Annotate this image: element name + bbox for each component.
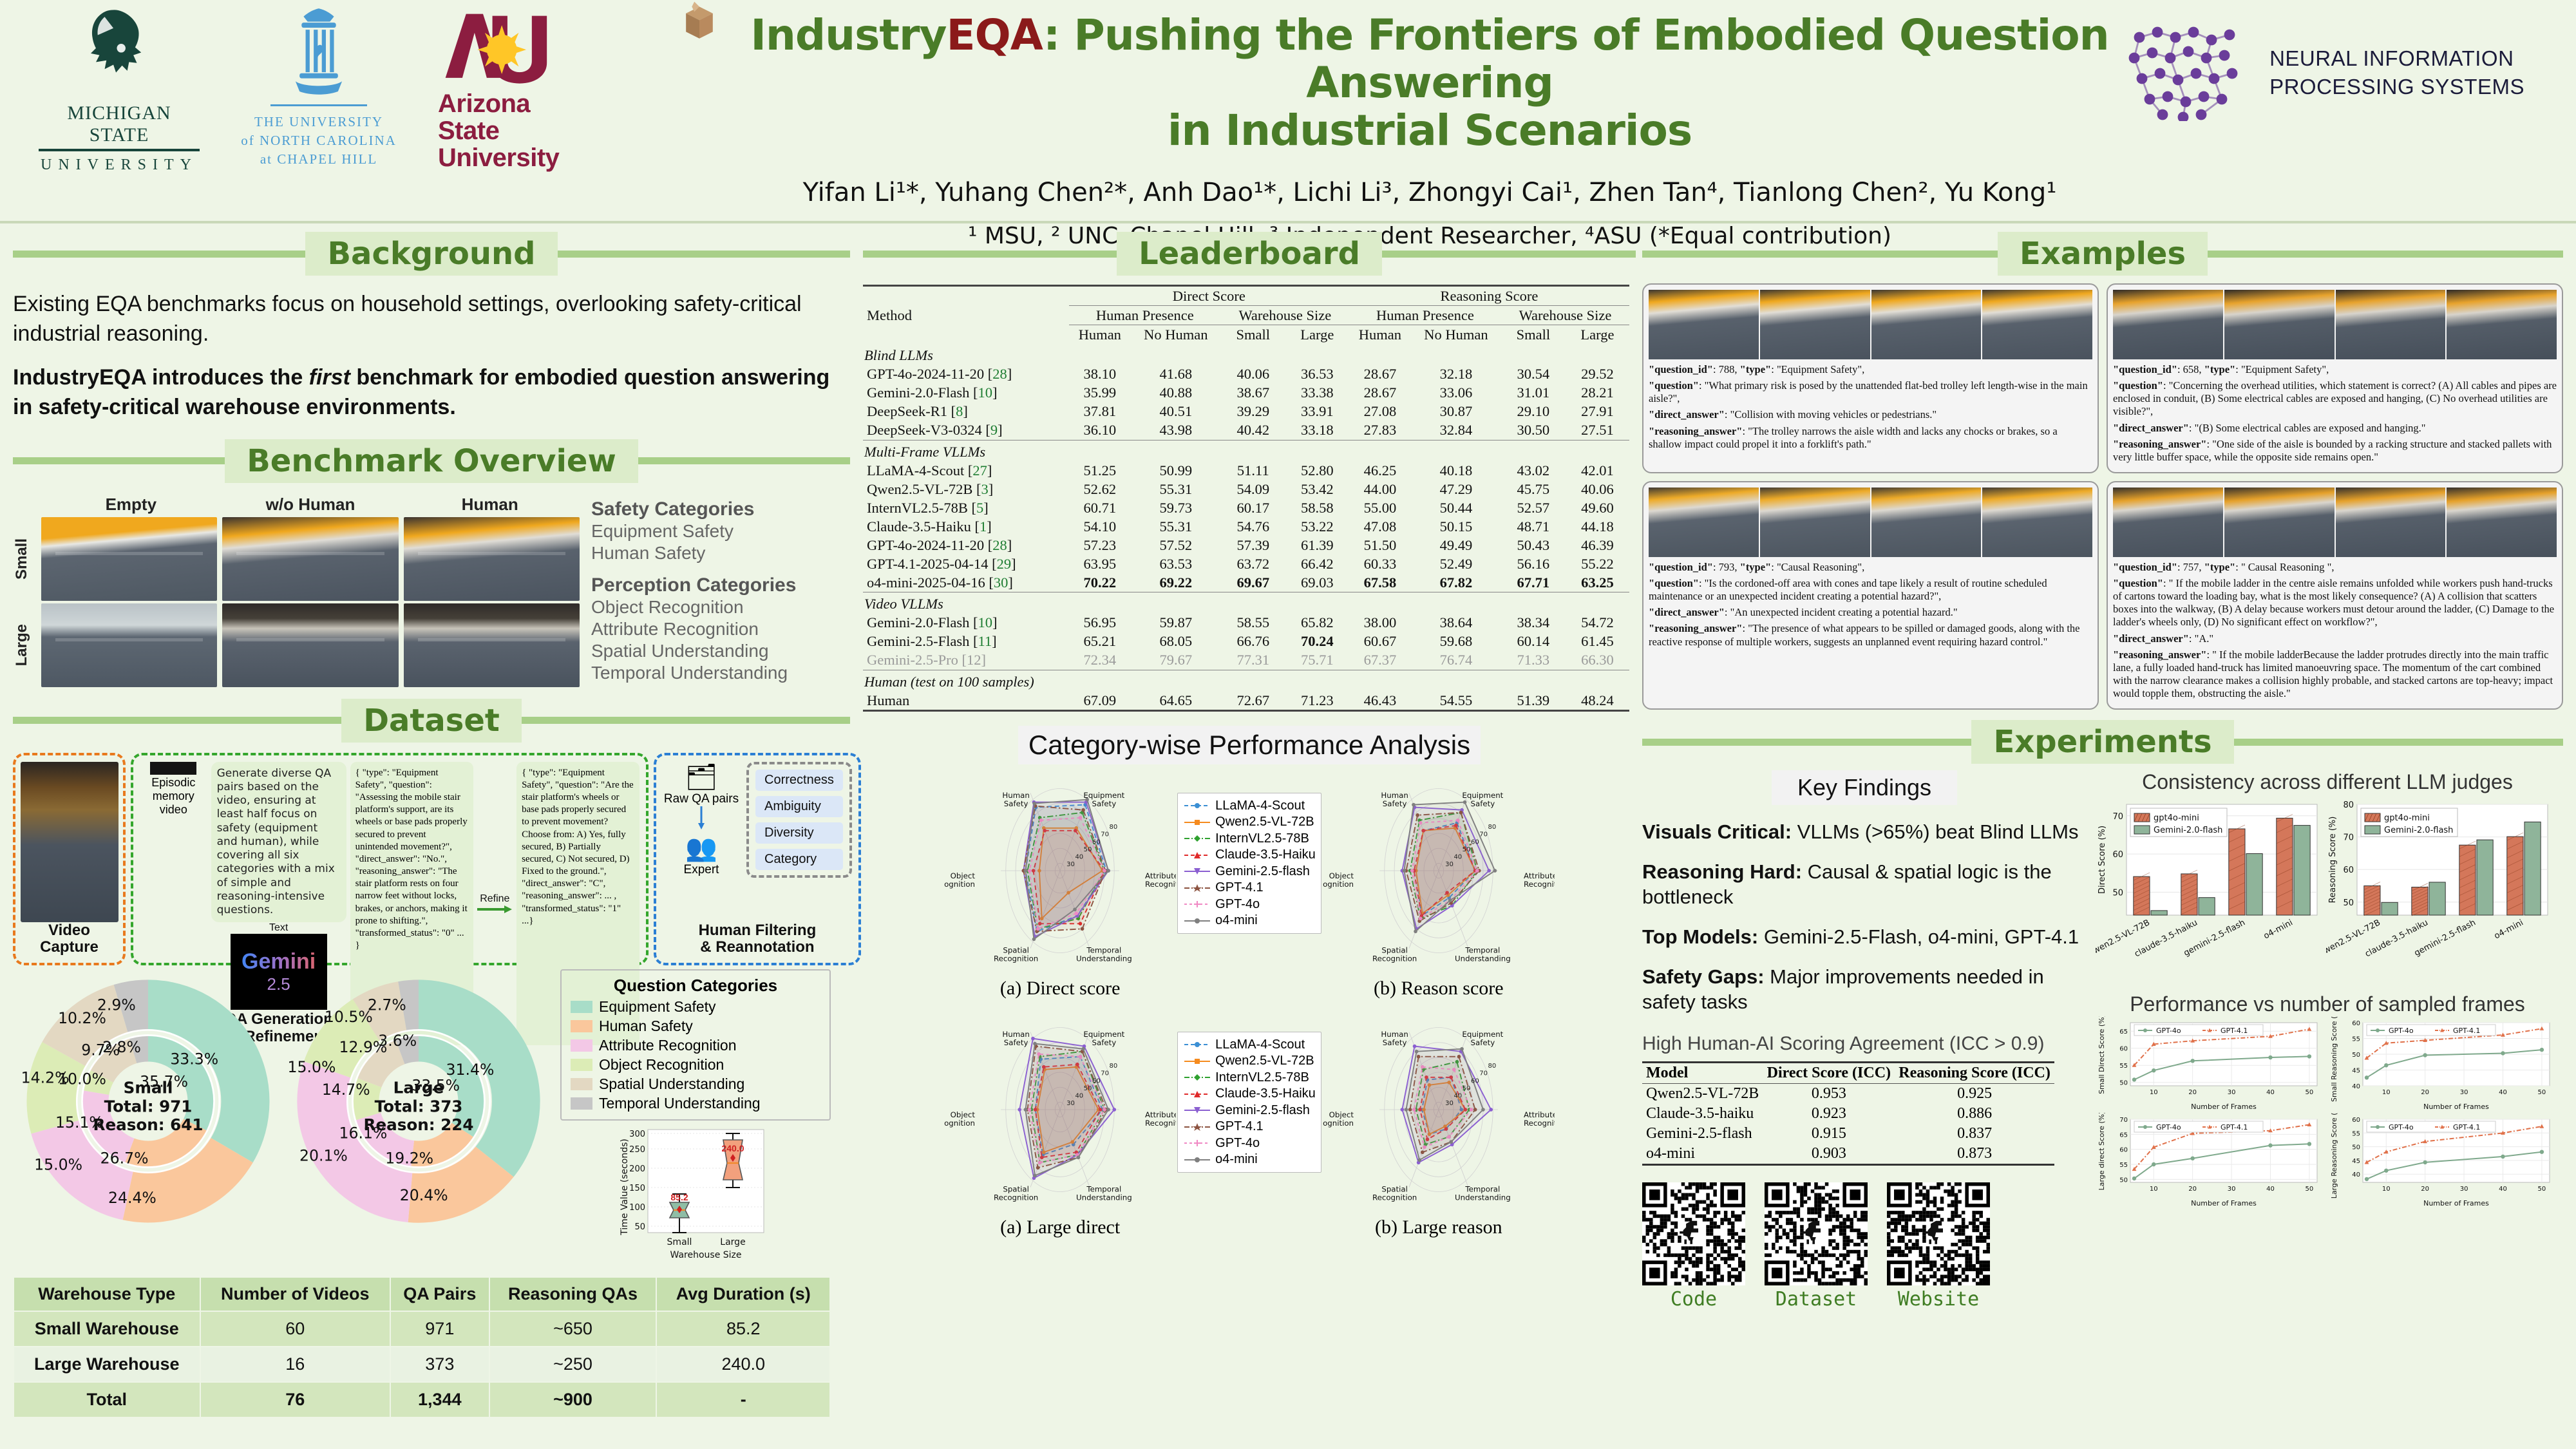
- decorative-bar-right: [1382, 251, 1636, 258]
- arrow-right-icon: [477, 905, 512, 914]
- boxplot-xtick-small: Small: [667, 1237, 692, 1247]
- cell-avg-duration: 240.0: [656, 1347, 830, 1382]
- arrow-label-refine: Refine: [480, 893, 509, 905]
- svg-text:20: 20: [2421, 1089, 2429, 1096]
- qr-code-icon[interactable]: [1642, 1182, 1745, 1285]
- institution-logos: MICHIGAN STATE UNIVERSITY THE UNIVERSIT: [39, 6, 592, 174]
- svg-text:GPT-4.1: GPT-4.1: [2453, 1123, 2480, 1132]
- leaderboard-score-cell: 41.68: [1131, 365, 1221, 384]
- svg-text:30: 30: [2228, 1089, 2236, 1096]
- col-header: Large: [1566, 325, 1629, 345]
- decorative-bar-left: [863, 251, 1117, 258]
- svg-text:Small Direct Score (%): Small Direct Score (%): [2098, 1016, 2106, 1094]
- leaderboard-score-cell: 71.33: [1501, 651, 1566, 670]
- leaderboard-score-cell: 38.10: [1069, 365, 1131, 384]
- icc-table: Model Direct Score (ICC) Reasoning Score…: [1642, 1061, 2054, 1166]
- qr-label-code: Code: [1642, 1288, 1745, 1311]
- leaderboard-score-cell: 60.17: [1221, 498, 1285, 517]
- leaderboard-score-cell: 53.22: [1285, 517, 1349, 536]
- leaderboard-method-cell: GPT-4o-2024-11-20 [28]: [863, 365, 1069, 384]
- leaderboard-score-cell: 33.06: [1411, 384, 1501, 402]
- svg-text:Reasoning Score (%): Reasoning Score (%): [2328, 817, 2338, 904]
- qr-card-dataset[interactable]: Dataset: [1765, 1182, 1868, 1311]
- leaderboard-score-cell: 63.25: [1566, 573, 1629, 592]
- subheader-human-presence: Human Presence: [1069, 306, 1221, 325]
- leaderboard-score-cell: 60.33: [1349, 554, 1411, 573]
- legend-item: Temporal Understanding: [571, 1095, 820, 1112]
- neurips-logo: NEURAL INFORMATION PROCESSING SYSTEMS: [2124, 24, 2524, 121]
- example-card: "question_id": 788, "type": "Equipment S…: [1642, 283, 2099, 473]
- svg-text:50: 50: [1462, 1085, 1470, 1092]
- legend-item: Human Safety: [571, 1018, 820, 1035]
- col-header-avg-duration: Avg Duration (s): [656, 1277, 830, 1311]
- leaderboard-group-row: Blind LLMs: [863, 344, 1629, 365]
- col-header-reasoning-qas: Reasoning QAs: [489, 1277, 657, 1311]
- radar-row-small: 304050607080EquipmentSafetyAttributeReco…: [863, 764, 1636, 999]
- radar-legend-item: o4-mini: [1183, 913, 1316, 928]
- radar-legend-label: Qwen2.5-VL-72B: [1215, 1054, 1314, 1068]
- leaderboard-row: InternVL2.5-78B [5]60.7159.7360.1758.585…: [863, 498, 1629, 517]
- leaderboard-score-cell: 59.73: [1131, 498, 1221, 517]
- svg-text:EquipmentSafety: EquipmentSafety: [1084, 791, 1125, 808]
- donut-small-outer-label: 15.0%: [34, 1155, 82, 1173]
- warehouse-image-grid: Empty w/o Human Human Small Large: [13, 495, 580, 687]
- leaderboard-score-cell: 28.21: [1566, 384, 1629, 402]
- svg-text:40: 40: [2352, 1171, 2360, 1179]
- msu-name-line1: MICHIGAN STATE: [39, 102, 200, 151]
- leaderboard-score-cell: 71.23: [1285, 691, 1349, 711]
- leaderboard-score-cell: 79.67: [1131, 651, 1221, 670]
- radar-legend-item: LLaMA-4-Scout: [1183, 799, 1316, 813]
- radar-legend-label: InternVL2.5-78B: [1215, 831, 1309, 846]
- leaderboard-method-cell: Gemini-2.5-Pro [12]: [863, 651, 1069, 670]
- donut-chart-small: 33.3% 24.4% 15.0% 14.2% 10.2% 2.9% 35.7%…: [13, 969, 283, 1236]
- leaderboard-score-cell: 39.29: [1221, 402, 1285, 421]
- logo-michigan-state-university: MICHIGAN STATE UNIVERSITY: [39, 6, 200, 174]
- consistency-charts: 506070Qwen2.5-VL-72Bclaude-3.5-haikugemi…: [2096, 794, 2559, 987]
- boxplot-value-large: 240.0: [721, 1143, 744, 1153]
- asu-monogram-icon: [438, 6, 551, 90]
- svg-text:80: 80: [1110, 1063, 1118, 1070]
- leaderboard-score-cell: 33.38: [1285, 384, 1349, 402]
- leaderboard-score-cell: 48.71: [1501, 517, 1566, 536]
- cell-qa-pairs: 373: [390, 1347, 489, 1382]
- radar-caption-d: (b) Large reason: [1323, 1217, 1555, 1238]
- qr-code-icon[interactable]: [1765, 1182, 1868, 1285]
- leaderboard-row: GPT-4o-2024-11-20 [28]38.1041.6840.0636.…: [863, 365, 1629, 384]
- leaderboard-table-wrap: Method Direct Score Reasoning Score Huma…: [863, 285, 1636, 712]
- svg-text:ObjectRecognition: ObjectRecognition: [944, 1110, 975, 1128]
- finding-top-models: Top Models: Gemini-2.5-Flash, o4-mini, G…: [1642, 924, 2087, 950]
- leaderboard-score-cell: 30.50: [1501, 421, 1566, 440]
- radar-legend-item: Qwen2.5-VL-72B: [1183, 1054, 1316, 1068]
- key-findings-panel: Key Findings Visuals Critical: VLLMs (>6…: [1642, 770, 2087, 1311]
- svg-text:Number of Frames: Number of Frames: [2423, 1199, 2489, 1207]
- msu-name-line2: UNIVERSITY: [39, 156, 200, 174]
- leaderboard-score-cell: 51.50: [1349, 536, 1411, 554]
- radar-legend-item: Qwen2.5-VL-72B: [1183, 815, 1316, 829]
- leaderboard-score-cell: 43.02: [1501, 461, 1566, 480]
- leaderboard-score-cell: 55.00: [1349, 498, 1411, 517]
- boxplot-ytick: 200: [629, 1164, 645, 1174]
- leaderboard-score-cell: 65.82: [1285, 614, 1349, 632]
- leaderboard-score-cell: 50.44: [1411, 498, 1501, 517]
- svg-text:80: 80: [2343, 800, 2354, 810]
- decorative-bar-right: [2208, 251, 2563, 258]
- legend-marker-icon: [1183, 917, 1211, 925]
- svg-text:60: 60: [1471, 1077, 1479, 1084]
- donut-large-center-l2: Total: 373: [375, 1097, 463, 1115]
- section-header-dataset: Dataset: [13, 699, 850, 743]
- leaderboard-group-label: Multi-Frame VLLMs: [863, 440, 1629, 461]
- decorative-bar-right: [522, 717, 850, 724]
- leaderboard-score-cell: 53.42: [1285, 480, 1349, 498]
- example-direct-answer: "direct_answer": "An unexpected incident…: [1649, 606, 2092, 619]
- title-rest: : Pushing the Frontiers of Embodied Ques…: [1043, 10, 2109, 108]
- raw-qa-label: Raw QA pairs: [663, 792, 740, 806]
- safety-category-item: Human Safety: [591, 542, 837, 564]
- warehouse-photo-large-empty: [41, 603, 217, 687]
- legend-item: Attribute Recognition: [571, 1037, 820, 1054]
- donut-small-center-l3: Reason: 641: [93, 1115, 204, 1134]
- background-paragraph-1: Existing EQA benchmarks focus on househo…: [13, 290, 850, 349]
- expert-label: Expert: [663, 863, 740, 877]
- category-lists: Safety Categories Equipment Safety Human…: [580, 495, 837, 687]
- leaderboard-score-cell: 54.55: [1411, 691, 1501, 711]
- decorative-bar-right: [558, 251, 850, 258]
- example-meta-line: "question_id": 788, "type": "Equipment S…: [1649, 363, 2092, 376]
- svg-text:50: 50: [1084, 1085, 1092, 1092]
- svg-text:GPT-4.1: GPT-4.1: [2453, 1027, 2480, 1035]
- finding-label: Safety Gaps:: [1642, 965, 1765, 988]
- radar-legend-label: LLaMA-4-Scout: [1215, 799, 1305, 813]
- legend-label: Equipment Safety: [599, 998, 716, 1016]
- svg-text:30: 30: [2228, 1186, 2236, 1193]
- column-header-human: Human: [400, 495, 580, 515]
- leaderboard-row: Claude-3.5-Haiku [1]54.1055.3154.7653.22…: [863, 517, 1629, 536]
- leaderboard-score-cell: 40.06: [1221, 365, 1285, 384]
- svg-text:60: 60: [2352, 1117, 2360, 1124]
- svg-text:Number of Frames: Number of Frames: [2423, 1103, 2489, 1111]
- donut-small-inner-label: 26.7%: [100, 1149, 149, 1167]
- col-header: Human: [1069, 325, 1131, 345]
- subheader-human-presence: Human Presence: [1349, 306, 1501, 325]
- experts-group-icon: 👥: [663, 833, 740, 863]
- qr-code-icon[interactable]: [1887, 1182, 1990, 1285]
- leaderboard-score-cell: 40.88: [1131, 384, 1221, 402]
- radar-legend-item: Claude-3.5-Haiku: [1183, 848, 1316, 862]
- leaderboard-score-cell: 33.18: [1285, 421, 1349, 440]
- leaderboard-score-cell: 60.67: [1349, 632, 1411, 651]
- svg-text:40: 40: [2499, 1089, 2507, 1096]
- cell-reasoning-qas: ~650: [489, 1311, 657, 1347]
- svg-text:30: 30: [2460, 1186, 2468, 1193]
- svg-text:GPT-4o: GPT-4o: [2389, 1027, 2414, 1035]
- donut-large-center-l3: Reason: 224: [364, 1115, 474, 1134]
- example-video-frame: [2336, 290, 2446, 359]
- donut-small-inner-label: 2.8%: [102, 1038, 141, 1056]
- svg-text:60: 60: [1092, 838, 1101, 846]
- leaderboard-score-cell: 38.34: [1501, 614, 1566, 632]
- svg-text:AttributeRecognition: AttributeRecognition: [1145, 871, 1176, 889]
- leaderboard-score-cell: 56.16: [1501, 554, 1566, 573]
- donut-small-outer-label: 2.9%: [97, 996, 136, 1014]
- svg-text:70: 70: [2343, 833, 2354, 843]
- radar-legend-item: Claude-3.5-Haiku: [1183, 1086, 1316, 1101]
- finding-safety-gaps: Safety Gaps: Major improvements needed i…: [1642, 964, 2087, 1015]
- line-chart-small-direct: 505560651020304050GPT-4oGPT-4.1Number of…: [2096, 1016, 2327, 1112]
- svg-text:gpt4o-mini: gpt4o-mini: [2384, 813, 2430, 823]
- radar-legend-label: Claude-3.5-Haiku: [1215, 848, 1316, 862]
- example-card: "question_id": 793, "type": "Causal Reas…: [1642, 481, 2099, 710]
- radar-legend-item: GPT-4.1: [1183, 1119, 1316, 1134]
- safety-category-item: Equipment Safety: [591, 520, 837, 542]
- left-column: Background Existing EQA benchmarks focus…: [13, 232, 850, 1418]
- svg-text:HumanSafety: HumanSafety: [1003, 1030, 1030, 1047]
- boxplot-ytick: 50: [634, 1222, 645, 1232]
- icc-table-wrap: Model Direct Score (ICC) Reasoning Score…: [1642, 1061, 2087, 1166]
- warehouse-photo-small-empty: [41, 517, 217, 601]
- logo-unc-chapel-hill: THE UNIVERSITY of NORTH CAROLINA at CHAP…: [238, 6, 399, 167]
- donut-large-svg: 31.4% 20.4% 20.1% 15.0% 10.5% 2.7% 33.5%…: [287, 969, 551, 1233]
- grid-row-large: Large: [13, 603, 580, 687]
- example-reasoning-answer: "reasoning_answer": " If the mobile ladd…: [2113, 649, 2557, 701]
- leaderboard-score-cell: 49.60: [1566, 498, 1629, 517]
- filter-criteria-list: Correctness Ambiguity Diversity Category: [746, 762, 852, 878]
- title-industry: Industry: [750, 10, 946, 60]
- radar-legend-item: LLaMA-4-Scout: [1183, 1037, 1316, 1052]
- example-video-frame: [1982, 290, 2092, 359]
- legend-marker-icon: [1183, 1041, 1211, 1048]
- neurips-line2: PROCESSING SYSTEMS: [2269, 73, 2524, 101]
- leaderboard-score-cell: 64.65: [1131, 691, 1221, 711]
- svg-text:60: 60: [2352, 1020, 2360, 1027]
- icc-score-cell: 0.837: [1895, 1124, 2054, 1144]
- svg-text:10: 10: [2382, 1186, 2391, 1193]
- documents-icon: 🗂: [663, 762, 740, 792]
- boxplot-ytick: 100: [629, 1203, 645, 1213]
- example-frame-strip: [1649, 290, 2092, 359]
- stage3-caption-l1: Human Filtering: [699, 922, 817, 939]
- author-list: Yifan Li¹*, Yuhang Chen²*, Anh Dao¹*, Li…: [696, 178, 2164, 207]
- example-meta-line: "question_id": 793, "type": "Causal Reas…: [1649, 561, 2092, 574]
- icc-score-cell: 0.915: [1763, 1124, 1895, 1144]
- perception-categories-heading: Perception Categories: [591, 574, 837, 596]
- col-header-qa-pairs: QA Pairs: [390, 1277, 489, 1311]
- row-label-large: Large: [13, 624, 41, 666]
- legend-item: Spatial Understanding: [571, 1075, 820, 1093]
- leaderboard-score-cell: 37.81: [1069, 402, 1131, 421]
- leaderboard-row: Gemini-2.5-Flash [11]65.2168.0566.7670.2…: [863, 632, 1629, 651]
- example-reasoning-answer: "reasoning_answer": "The presence of wha…: [1649, 622, 2092, 648]
- col-header: Small: [1501, 325, 1566, 345]
- leaderboard-score-cell: 67.71: [1501, 573, 1566, 592]
- cell-qa-pairs: 1,344: [390, 1382, 489, 1417]
- leaderboard-method-cell: o4-mini-2025-04-16 [30]: [863, 573, 1069, 592]
- qr-code-row: Code Dataset Website: [1642, 1182, 2087, 1311]
- leaderboard-score-cell: 72.34: [1069, 651, 1131, 670]
- cell-videos: 76: [200, 1382, 391, 1417]
- svg-text:SpatialRecognition: SpatialRecognition: [994, 1184, 1038, 1202]
- section-title-background: Background: [305, 232, 557, 276]
- section-title-experiments: Experiments: [1971, 720, 2233, 764]
- radar-legend-label: Gemini-2.5-flash: [1215, 864, 1310, 879]
- table-row: Large Warehouse 16 373 ~250 240.0: [14, 1347, 830, 1382]
- svg-text:Gemini-2.0-flash: Gemini-2.0-flash: [2384, 826, 2453, 835]
- grid-column-headers: Empty w/o Human Human: [41, 495, 580, 515]
- donut-chart-large: 31.4% 20.4% 20.1% 15.0% 10.5% 2.7% 33.5%…: [283, 969, 554, 1236]
- leaderboard-row: Gemini-2.0-Flash [10]56.9559.8758.5565.8…: [863, 614, 1629, 632]
- leaderboard-score-cell: 77.31: [1221, 651, 1285, 670]
- perception-category-item: Temporal Understanding: [591, 662, 837, 684]
- radar-legend-label: o4-mini: [1215, 913, 1258, 928]
- legend-marker-icon: [1183, 1090, 1211, 1098]
- example-frame-strip: [1649, 488, 2092, 557]
- boxplot-ytick: 150: [629, 1184, 645, 1193]
- decorative-bar-left: [13, 717, 341, 724]
- leaderboard-score-cell: 67.82: [1411, 573, 1501, 592]
- leaderboard-score-cell: 69.67: [1221, 573, 1285, 592]
- leaderboard-score-cell: 55.22: [1566, 554, 1629, 573]
- dataset-summary-table: Warehouse Type Number of Videos QA Pairs…: [13, 1276, 831, 1418]
- section-title-dataset: Dataset: [341, 699, 522, 743]
- legend-swatch: [571, 1078, 592, 1090]
- donut-small-outer-label: 24.4%: [108, 1188, 156, 1206]
- svg-text:AttributeRecognition: AttributeRecognition: [1524, 1110, 1555, 1128]
- leaderboard-score-cell: 70.24: [1285, 632, 1349, 651]
- question-categories-legend: Question Categories Equipment Safety Hum…: [560, 969, 831, 1121]
- svg-text:o4-mini: o4-mini: [2493, 918, 2525, 941]
- cell-warehouse-type: Small Warehouse: [14, 1311, 200, 1347]
- background-paragraph-2: IndustryEQA introduces the first benchma…: [13, 363, 850, 422]
- qr-card-code[interactable]: Code: [1642, 1182, 1745, 1311]
- legend-marker-icon: [1183, 884, 1211, 892]
- svg-text:40: 40: [2352, 1083, 2360, 1090]
- perception-category-item: Object Recognition: [591, 596, 837, 618]
- svg-text:TemporalUnderstanding: TemporalUnderstanding: [1076, 1184, 1132, 1202]
- leaderboard-method-cell: Human: [863, 691, 1069, 711]
- svg-text:SpatialRecognition: SpatialRecognition: [994, 945, 1038, 963]
- leaderboard-score-cell: 63.53: [1131, 554, 1221, 573]
- legend-marker-icon: [1183, 1156, 1211, 1164]
- donut-small-outer-label: 33.3%: [170, 1050, 218, 1068]
- donut-large-inner-label: 3.6%: [378, 1031, 417, 1049]
- leaderboard-score-cell: 52.57: [1501, 498, 1566, 517]
- leaderboard-score-cell: 67.58: [1349, 573, 1411, 592]
- radar-legend-label: GPT-4o: [1215, 1136, 1260, 1151]
- benchmark-overview-body: Empty w/o Human Human Small Large: [13, 495, 850, 687]
- radar-legend-label: Claude-3.5-Haiku: [1215, 1086, 1316, 1101]
- leaderboard-score-cell: 29.10: [1501, 402, 1566, 421]
- subheader-warehouse-size: Warehouse Size: [1221, 306, 1349, 325]
- table-header-row: Warehouse Type Number of Videos QA Pairs…: [14, 1277, 830, 1311]
- legend-label: Human Safety: [599, 1018, 693, 1035]
- unc-name-line2: of NORTH CAROLINA: [238, 133, 399, 149]
- leaderboard-method-cell: DeepSeek-R1 [8]: [863, 402, 1069, 421]
- svg-text:40: 40: [1454, 1092, 1462, 1099]
- leaderboard-score-cell: 72.67: [1221, 691, 1285, 711]
- example-video-frame: [2113, 290, 2223, 359]
- experiment-charts-panel: Consistency across different LLM judges …: [2096, 770, 2559, 1311]
- svg-text:GPT-4o: GPT-4o: [2389, 1123, 2414, 1132]
- svg-text:20: 20: [2188, 1186, 2197, 1193]
- radar-legend-bottom: LLaMA-4-ScoutQwen2.5-VL-72BInternVL2.5-7…: [1177, 1032, 1321, 1173]
- leaderboard-score-cell: 52.62: [1069, 480, 1131, 498]
- cell-reasoning-qas: ~900: [489, 1382, 657, 1417]
- radar-caption-a: (a) Direct score: [944, 978, 1176, 999]
- decorative-bar-left: [1642, 739, 1971, 746]
- icc-col-header-model: Model: [1642, 1063, 1763, 1084]
- boxplot-ytick: 250: [629, 1145, 645, 1155]
- leaderboard-score-cell: 66.30: [1566, 651, 1629, 670]
- example-video-frame: [2224, 290, 2334, 359]
- example-video-frame: [1982, 488, 2092, 557]
- video-capture-frame: [21, 762, 118, 922]
- radar-legend-item: GPT-4o: [1183, 1136, 1316, 1151]
- stage1-caption: Video Capture: [22, 922, 117, 956]
- example-video-frame: [1871, 488, 1982, 557]
- leaderboard-score-cell: 43.98: [1131, 421, 1221, 440]
- donut-large-inner-label: 14.7%: [322, 1080, 370, 1098]
- leaderboard-score-cell: 40.18: [1411, 461, 1501, 480]
- qr-card-website[interactable]: Website: [1887, 1182, 1990, 1311]
- boxplot-ytick: 300: [629, 1130, 645, 1139]
- donut-large-outer-label: 2.7%: [368, 996, 406, 1014]
- radar-legend-label: Gemini-2.5-flash: [1215, 1103, 1310, 1118]
- leaderboard-score-cell: 51.11: [1221, 461, 1285, 480]
- leaderboard-group-label: Human (test on 100 samples): [863, 670, 1629, 691]
- section-header-leaderboard: Leaderboard: [863, 232, 1636, 276]
- svg-text:80: 80: [1110, 824, 1118, 831]
- svg-text:45: 45: [2352, 1158, 2360, 1165]
- svg-text:50: 50: [2119, 1080, 2128, 1087]
- leaderboard-group-row: Video VLLMs: [863, 592, 1629, 614]
- leaderboard-method-cell: InternVL2.5-78B [5]: [863, 498, 1069, 517]
- leaderboard-method-cell: Gemini-2.0-Flash [10]: [863, 614, 1069, 632]
- radar-caption-b: (b) Reason score: [1323, 978, 1555, 999]
- section-title-benchmark-overview: Benchmark Overview: [225, 439, 638, 483]
- svg-text:55: 55: [2352, 1036, 2360, 1043]
- leaderboard-score-cell: 45.75: [1501, 480, 1566, 498]
- svg-text:50: 50: [2306, 1089, 2314, 1096]
- radar-legend-label: InternVL2.5-78B: [1215, 1070, 1309, 1085]
- criterion-ambiguity: Ambiguity: [755, 796, 843, 817]
- svg-text:SpatialRecognition: SpatialRecognition: [1372, 945, 1417, 963]
- icc-row: Qwen2.5-VL-72B0.9530.925: [1642, 1084, 2054, 1104]
- row-label-small: Small: [13, 538, 41, 580]
- leaderboard-score-cell: 28.67: [1349, 384, 1411, 402]
- svg-text:30: 30: [1445, 861, 1454, 868]
- arrow-label-text: Text: [269, 922, 288, 934]
- pipeline-stage-qa-generation: Episodic memory video Generate diverse Q…: [131, 753, 649, 965]
- header-divider: [0, 221, 2576, 223]
- dataset-pipeline: Video Capture Episodic memory video Gene…: [13, 753, 850, 965]
- leaderboard-row: Qwen2.5-VL-72B [3]52.6255.3154.0953.4244…: [863, 480, 1629, 498]
- example-video-frame: [2224, 488, 2334, 557]
- leaderboard-score-cell: 61.39: [1285, 536, 1349, 554]
- unc-name-line1: THE UNIVERSITY: [238, 114, 399, 130]
- icc-score-cell: 0.903: [1763, 1144, 1895, 1165]
- svg-text:60: 60: [1471, 838, 1479, 846]
- svg-text:70: 70: [1101, 1070, 1109, 1077]
- svg-text:65: 65: [2119, 1132, 2128, 1139]
- leaderboard-score-cell: 46.43: [1349, 691, 1411, 711]
- title-line2: in Industrial Scenarios: [696, 107, 2164, 155]
- donut-small-inner-label: 10.0%: [58, 1070, 106, 1088]
- dataset-statistics-charts: 33.3% 24.4% 15.0% 14.2% 10.2% 2.9% 35.7%…: [13, 969, 850, 1267]
- icc-row: Gemini-2.5-flash0.9150.837: [1642, 1124, 2054, 1144]
- leaderboard-score-cell: 35.99: [1069, 384, 1131, 402]
